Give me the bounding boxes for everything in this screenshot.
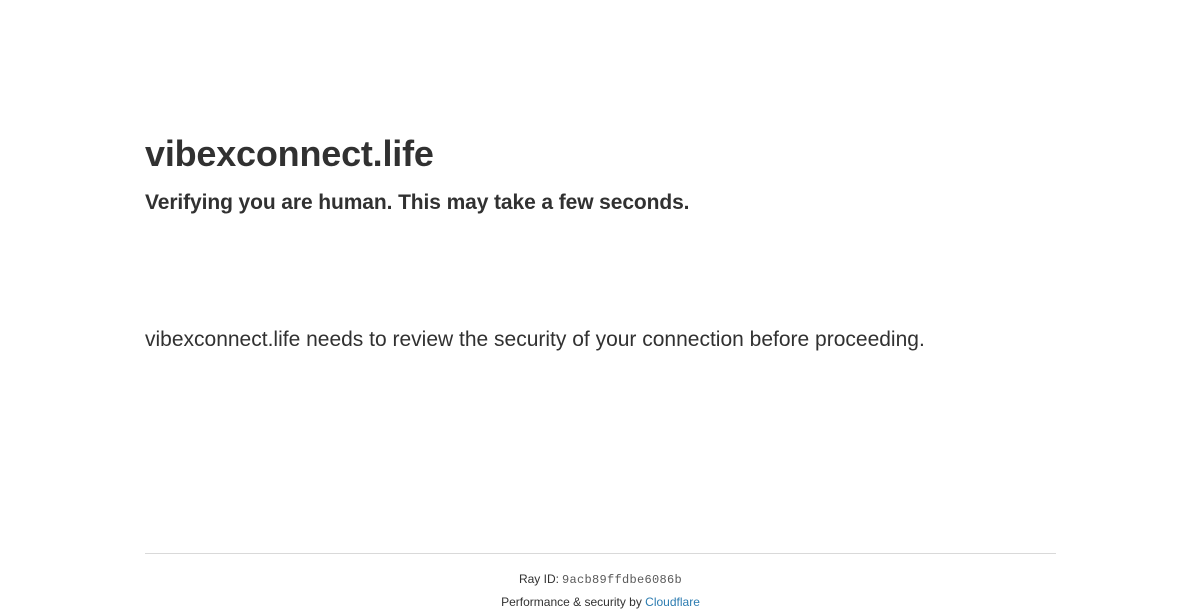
challenge-content: vibexconnect.life Verifying you are huma… [145,0,1056,358]
ray-id-label: Ray ID: [519,572,559,586]
cloudflare-link[interactable]: Cloudflare [645,595,700,609]
challenge-description: vibexconnect.life needs to review the se… [145,318,945,358]
attribution-prefix: Performance & security by [501,595,645,609]
page-title: vibexconnect.life [145,132,1056,176]
turnstile-challenge-widget[interactable] [145,253,445,318]
ray-id-value: 9acb89ffdbe6086b [559,573,682,587]
challenge-page: vibexconnect.life Verifying you are huma… [0,0,1200,600]
challenge-headline-block: vibexconnect.life Verifying you are huma… [145,0,1056,217]
page-footer: Ray ID:9acb89ffdbe6086b Performance & se… [145,553,1056,610]
attribution-row: Performance & security by Cloudflare [145,588,1056,610]
verification-status-text: Verifying you are human. This may take a… [145,176,1056,217]
ray-id-row: Ray ID:9acb89ffdbe6086b [145,572,1056,588]
footer-content: Ray ID:9acb89ffdbe6086b Performance & se… [145,554,1056,610]
